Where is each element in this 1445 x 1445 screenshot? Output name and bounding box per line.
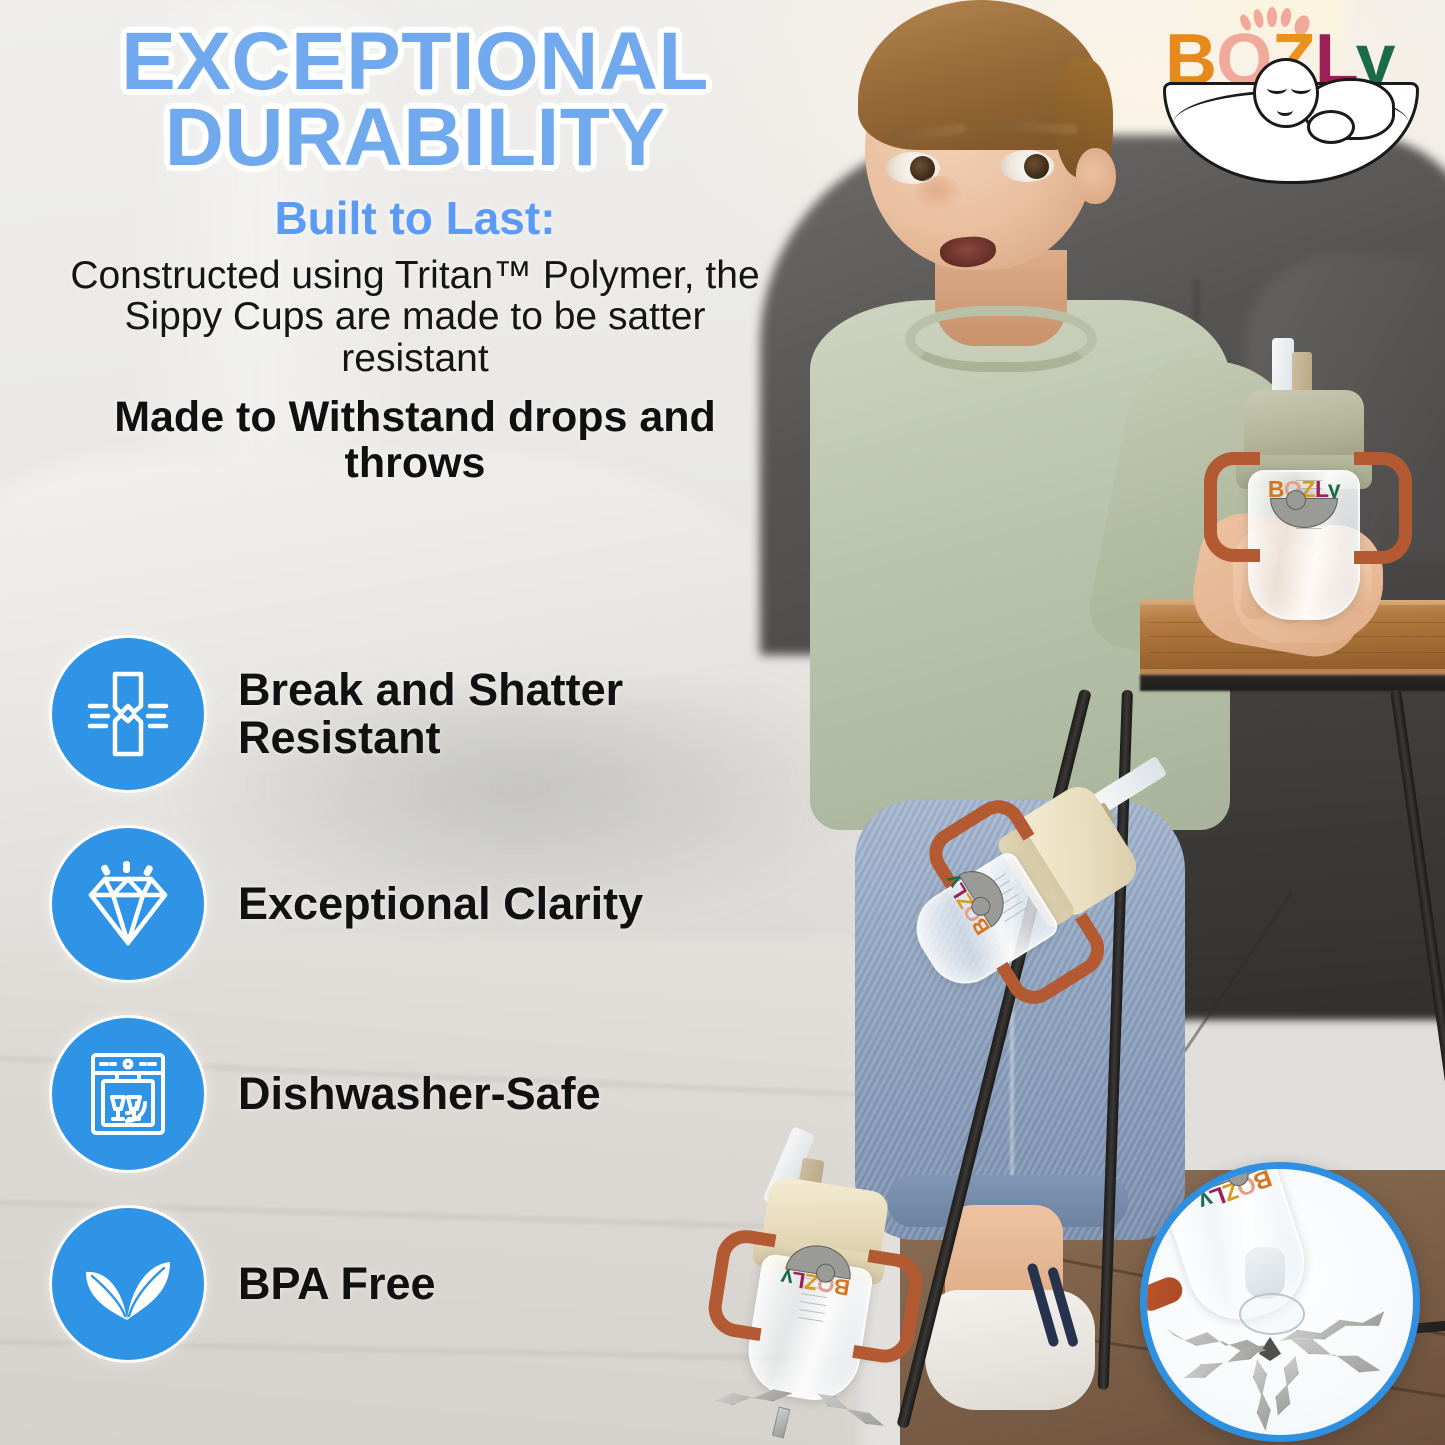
boy-nose <box>915 176 963 212</box>
leaves-icon <box>52 1208 204 1360</box>
boy-eye <box>1000 150 1054 182</box>
logo-baby-mouth <box>1277 104 1293 116</box>
page-title: EXCEPTIONAL DURABILITY <box>0 24 830 177</box>
inset-cup-base-ring <box>1239 1293 1305 1335</box>
feature-item-clarity: Exceptional Clarity <box>52 826 812 982</box>
body-paragraph-bold: Made to Withstand drops and throws <box>50 394 780 486</box>
feature-label: Exceptional Clarity <box>238 880 643 928</box>
decal-baby <box>1286 490 1306 510</box>
feature-item-bpa-free: BPA Free <box>52 1206 812 1362</box>
dishwasher-icon <box>52 1018 204 1170</box>
logo-baby-eye <box>1267 82 1287 94</box>
cup-handle-right <box>1354 452 1412 564</box>
feature-label: BPA Free <box>238 1260 436 1308</box>
diamond-icon <box>52 828 204 980</box>
body-paragraph: Constructed using Tritan™ Polymer, the S… <box>65 255 765 380</box>
shatter-resistant-icon <box>52 638 204 790</box>
impact-closeup-inset: BOZLy <box>1140 1162 1420 1442</box>
inset-crack-shard <box>1271 1354 1303 1418</box>
inset-cup-spout <box>1245 1247 1285 1299</box>
logo-baby-eye <box>1291 82 1311 94</box>
boy-ear <box>1076 148 1116 204</box>
brand-logo: BOZLy <box>1155 4 1430 184</box>
logo-baby-arm <box>1307 110 1355 144</box>
feature-label: Break and Shatter Resistant <box>238 666 812 761</box>
subheading: Built to Last: <box>0 191 830 245</box>
table-underside <box>1140 675 1445 691</box>
logo-baby-head <box>1253 58 1319 128</box>
feature-item-shatter-resistant: Break and Shatter Resistant <box>52 636 812 792</box>
feature-item-dishwasher-safe: Dishwasher-Safe <box>52 1016 812 1172</box>
inset-cup-handle <box>1140 1273 1186 1314</box>
marketing-copy-block: EXCEPTIONAL DURABILITY Built to Last: Co… <box>0 0 830 486</box>
boy-collar <box>905 306 1097 372</box>
inset-crack-shard <box>1251 1358 1272 1431</box>
feature-label: Dishwasher-Safe <box>238 1070 601 1118</box>
cup-brand-decal: BOZLy <box>1256 478 1352 501</box>
feature-list: Break and Shatter Resistant Ex <box>52 636 812 1396</box>
cup-handle-left <box>1204 452 1260 562</box>
boy-sock <box>925 1290 1095 1410</box>
